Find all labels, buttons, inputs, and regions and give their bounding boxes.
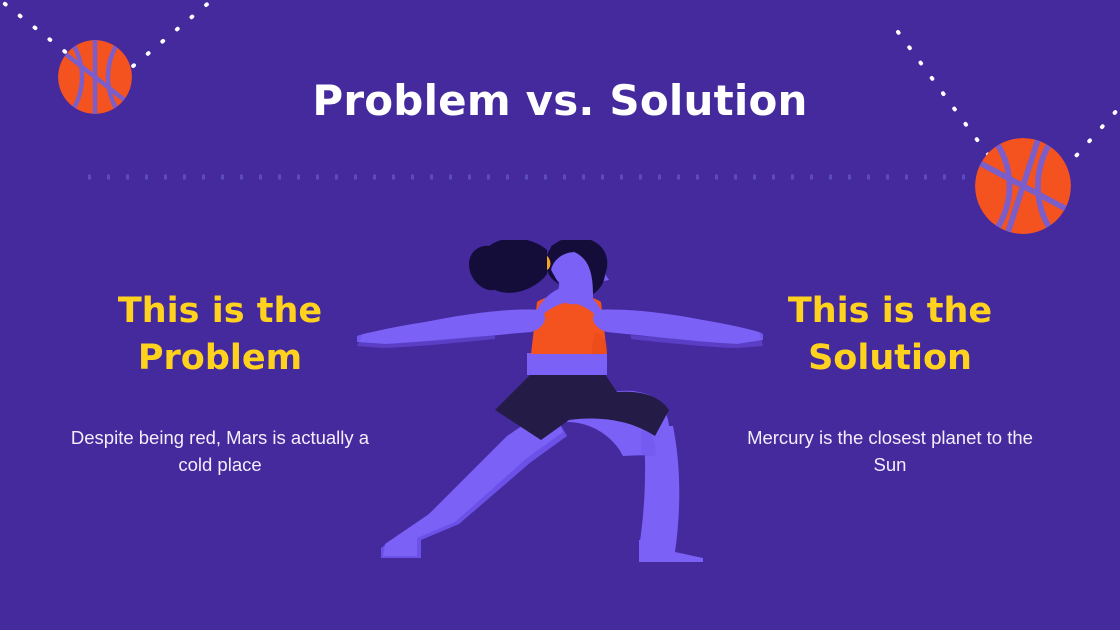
- column-problem: This is the Problem Despite being red, M…: [70, 288, 370, 479]
- yoga-warrior-pose-illustration: [355, 240, 765, 570]
- column-problem-body: Despite being red, Mars is actually a co…: [70, 425, 370, 479]
- column-problem-heading: This is the Problem: [70, 288, 370, 381]
- slide-canvas: Problem vs. Solution This is the Problem…: [0, 0, 1120, 630]
- column-solution-body: Mercury is the closest planet to the Sun: [740, 425, 1040, 479]
- column-solution: This is the Solution Mercury is the clos…: [740, 288, 1040, 479]
- basketball-icon-right: [975, 138, 1071, 234]
- slide-title: Problem vs. Solution: [0, 76, 1120, 125]
- column-solution-heading: This is the Solution: [740, 288, 1040, 381]
